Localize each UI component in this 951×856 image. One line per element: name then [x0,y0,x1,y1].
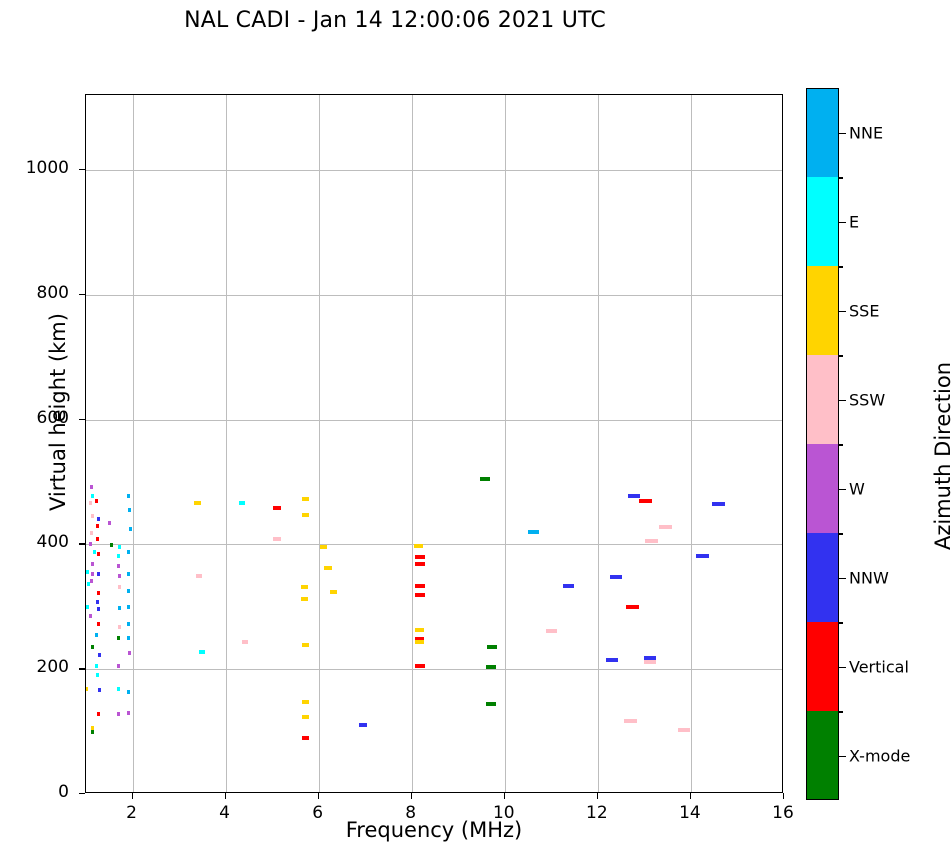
data-point-w [117,712,120,716]
colorbar-boundary-tick [839,355,843,357]
data-point-w [128,651,131,655]
data-point-e [86,605,89,609]
colorbar-boundary-tick [839,533,843,535]
data-point-nnw [712,502,725,506]
data-point-x-mode [117,636,120,640]
colorbar-tick [839,578,846,580]
azimuth-colorbar [806,88,839,800]
x-axis-tick [783,793,784,799]
data-point-ssw [624,719,637,723]
data-point-nnw [96,600,99,604]
colorbar-segment-nne [807,88,838,177]
page-title: NAL CADI - Jan 14 12:00:06 2021 UTC [0,8,790,33]
y-axis-tick [79,419,85,420]
data-point-w [117,564,120,568]
data-point-nnw [97,607,100,611]
data-point-nne [127,690,130,694]
data-point-e [93,550,96,554]
colorbar-label-vertical: Vertical [849,657,909,676]
colorbar-tick [839,311,846,313]
data-point-vertical [415,593,424,597]
x-axis-tick [132,793,133,799]
data-point-w [91,562,94,566]
data-point-nnw [98,653,101,657]
data-point-nne [127,572,130,576]
data-point-ssw [273,537,280,541]
y-axis-label: Virtual height (km) [46,262,70,562]
colorbar-segment-sse [807,266,838,355]
y-axis-tick-label: 0 [0,782,69,802]
data-point-sse [86,687,88,691]
y-axis-tick-label: 200 [0,657,69,677]
data-point-w [89,542,92,546]
colorbar-boundary-tick [839,266,843,268]
colorbar-tick [839,489,846,491]
colorbar-boundary-tick [839,444,843,446]
data-point-x-mode [91,645,94,649]
data-point-nnw [97,572,100,576]
data-point-sse [302,497,309,501]
data-point-w [127,711,130,715]
y-axis-tick [79,668,85,669]
data-point-vertical [626,605,639,609]
colorbar-segment-e [807,177,838,266]
colorbar-tick [839,222,846,224]
colorbar-segment-w [807,444,838,533]
data-point-vertical [97,552,100,556]
data-point-nne [127,636,130,640]
colorbar-segment-vertical [807,622,838,711]
data-point-ssw [678,728,691,732]
data-point-vertical [95,499,98,503]
data-point-ssw [89,501,92,505]
data-point-nne [118,606,121,610]
y-axis-tick [79,793,85,794]
data-point-x-mode [91,730,94,734]
colorbar-segment-x-mode [807,711,838,800]
data-point-vertical [302,736,309,740]
data-point-x-mode [486,702,496,706]
data-point-nne [127,494,130,498]
ionogram-plot-area [85,94,783,793]
y-axis-tick-label: 1000 [0,158,69,178]
data-point-sse [414,544,423,548]
x-axis-tick [690,793,691,799]
data-point-e [91,494,94,498]
y-axis-tick [79,169,85,170]
data-point-vertical [415,664,424,668]
data-point-nnw [628,494,641,498]
data-point-sse [302,715,309,719]
data-point-nnw [563,584,575,588]
data-point-w [91,572,94,576]
data-point-vertical [415,562,424,566]
data-point-sse [194,501,201,505]
y-axis-tick [79,294,85,295]
data-point-w [90,579,93,583]
data-point-nnw [696,554,709,558]
data-point-sse [302,700,309,704]
data-point-sse [320,545,327,549]
data-point-ssw [644,660,657,664]
colorbar-tick [839,133,846,135]
data-point-vertical [96,537,99,541]
data-point-e [118,545,121,549]
data-point-sse [415,640,424,644]
colorbar-label-nne: NNE [849,123,883,142]
y-axis-tick [79,543,85,544]
data-point-sse [324,566,331,570]
data-point-w [118,574,121,578]
data-point-e [86,570,89,574]
data-point-e [96,673,99,677]
x-axis-tick [597,793,598,799]
data-point-sse [330,590,337,594]
x-axis-label: Frequency (MHz) [85,818,783,842]
colorbar-tick [839,756,846,758]
x-axis-tick [411,793,412,799]
colorbar-boundary-tick [839,177,843,179]
data-point-sse [301,597,308,601]
data-point-nne [128,508,131,512]
data-point-nne [127,605,130,609]
data-point-sse [302,643,309,647]
data-point-ssw [90,531,93,535]
plot-data-marks [86,95,782,792]
data-point-ssw [91,514,94,518]
data-point-w [89,614,92,618]
data-point-nnw [606,658,618,662]
x-axis-tick [225,793,226,799]
colorbar-label: Azimuth Direction [931,306,951,606]
data-point-nne [127,622,130,626]
data-point-w [90,485,93,489]
data-point-ssw [118,625,121,629]
x-axis-tick [504,793,505,799]
data-point-x-mode [487,645,497,649]
data-point-vertical [639,499,652,503]
data-point-nne [528,530,539,534]
data-point-sse [302,513,309,517]
data-point-vertical [273,506,280,510]
data-point-vertical [97,591,100,595]
data-point-e [239,501,246,505]
colorbar-label-sse: SSE [849,301,879,320]
x-axis-tick [318,793,319,799]
data-point-vertical [97,712,100,716]
colorbar-label-ssw: SSW [849,390,885,409]
data-point-ssw [118,585,121,589]
data-point-vertical [97,622,100,626]
colorbar-segment-ssw [807,355,838,444]
data-point-vertical [415,555,424,559]
colorbar-boundary-tick [839,622,843,624]
data-point-vertical [96,524,99,528]
colorbar-label-x-mode: X-mode [849,746,910,765]
data-point-nnw [610,575,622,579]
data-point-w [108,521,111,525]
data-point-x-mode [110,543,113,547]
data-point-w [117,664,120,668]
data-point-nnw [97,517,100,521]
data-point-x-mode [486,665,496,669]
data-point-nne [127,550,130,554]
data-point-nnw [359,723,366,727]
colorbar-label-nnw: NNW [849,568,889,587]
data-point-ssw [242,640,248,644]
data-point-vertical [415,584,424,588]
colorbar-label-e: E [849,212,859,231]
data-point-nnw [98,688,101,692]
colorbar-label-w: W [849,479,865,498]
colorbar-tick [839,400,846,402]
data-point-e [117,554,120,558]
data-point-nne [129,527,132,531]
data-point-e [199,650,205,654]
data-point-ssw [659,525,672,529]
data-point-sse [415,628,424,632]
colorbar-segment-nnw [807,533,838,622]
data-point-x-mode [480,477,490,481]
data-point-e [117,687,120,691]
data-point-ssw [645,539,658,543]
colorbar-tick [839,667,846,669]
data-point-ssw [546,629,557,633]
data-point-e [87,582,90,586]
data-point-nne [127,589,130,593]
data-point-e [95,664,98,668]
colorbar-boundary-tick [839,711,843,713]
data-point-sse [301,585,308,589]
data-point-ssw [196,574,202,578]
data-point-nne [95,633,98,637]
